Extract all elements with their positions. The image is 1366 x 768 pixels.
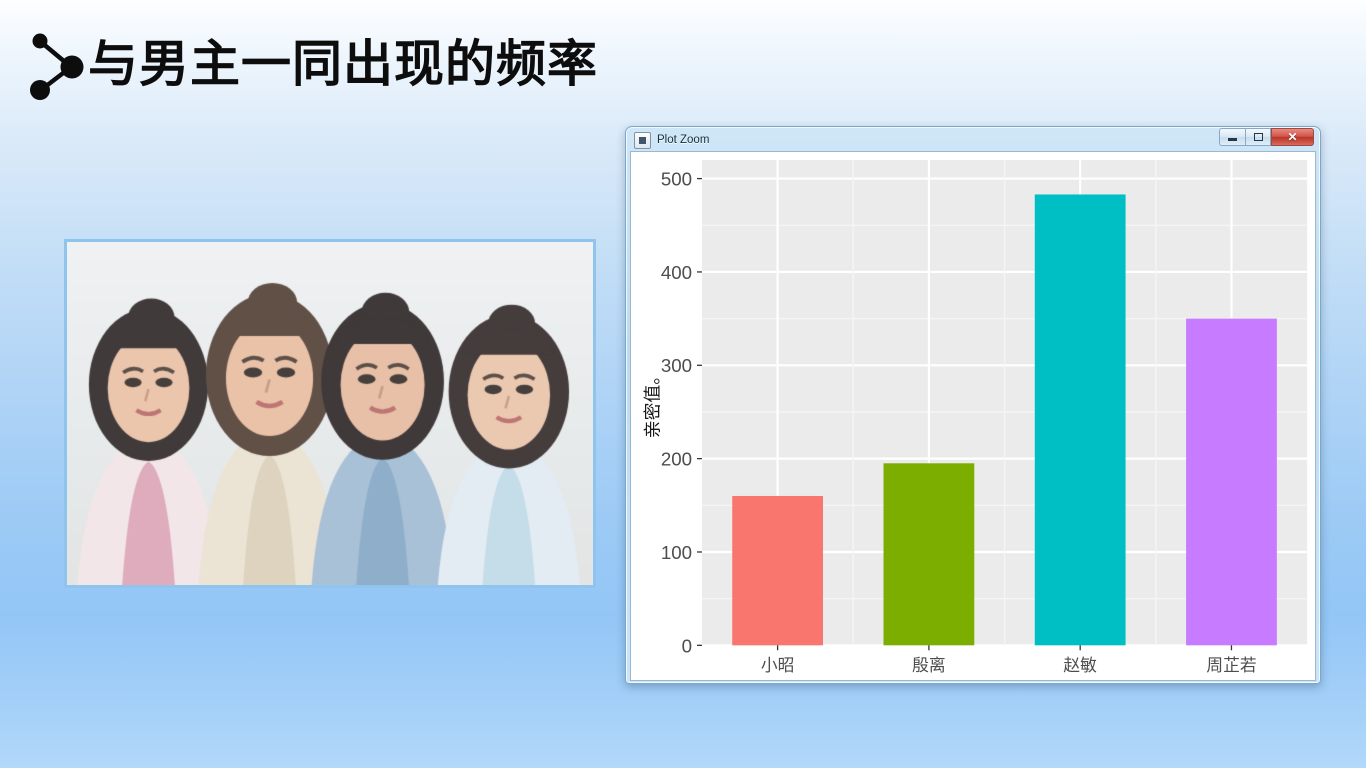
plot-window-icon <box>634 132 651 149</box>
page-title: 与男主一同出现的频率 <box>26 28 598 104</box>
maximize-icon <box>1254 133 1263 141</box>
bar-殷离 <box>884 463 975 645</box>
window-title: Plot Zoom <box>657 134 709 146</box>
plot-zoom-window[interactable]: Plot Zoom ✕ 0100200300400500 小昭殷离赵敏周芷若 亲… <box>625 126 1321 684</box>
y-tick-label: 400 <box>661 262 692 283</box>
photo-canvas <box>67 242 593 585</box>
y-tick-label: 500 <box>661 168 692 189</box>
window-titlebar[interactable]: Plot Zoom ✕ <box>630 127 1316 151</box>
minimize-icon <box>1228 138 1237 141</box>
bar-小昭 <box>732 496 823 645</box>
x-axis-ticks: 小昭殷离赵敏周芷若 <box>761 645 1257 675</box>
network-graph-icon <box>26 28 88 104</box>
y-axis-title: 亲密值。 <box>643 367 663 438</box>
y-tick-label: 0 <box>682 635 692 656</box>
four-women-traditional-costume-photo <box>64 239 596 588</box>
y-tick-label: 300 <box>661 355 692 376</box>
page-title-text: 与男主一同出现的频率 <box>88 39 598 93</box>
bar-赵敏 <box>1035 194 1126 645</box>
y-axis-ticks: 0100200300400500 <box>661 168 702 656</box>
close-icon: ✕ <box>1287 131 1297 143</box>
window-controls[interactable]: ✕ <box>1219 128 1314 146</box>
maximize-button[interactable] <box>1245 128 1271 146</box>
y-tick-label: 200 <box>661 449 692 470</box>
x-tick-label-殷离: 殷离 <box>912 656 945 675</box>
bar-chart-svg: 0100200300400500 小昭殷离赵敏周芷若 亲密值。 妹子们 <box>631 152 1315 680</box>
bar-chart: 0100200300400500 小昭殷离赵敏周芷若 亲密值。 妹子们 <box>631 152 1315 680</box>
bar-周芷若 <box>1186 319 1277 646</box>
plot-client-area[interactable]: 0100200300400500 小昭殷离赵敏周芷若 亲密值。 妹子们 <box>630 151 1316 681</box>
x-tick-label-赵敏: 赵敏 <box>1063 656 1097 675</box>
x-tick-label-小昭: 小昭 <box>761 656 794 675</box>
close-button[interactable]: ✕ <box>1271 128 1314 146</box>
minimize-button[interactable] <box>1219 128 1245 146</box>
y-tick-label: 100 <box>661 542 692 563</box>
x-tick-label-周芷若: 周芷若 <box>1206 656 1256 675</box>
